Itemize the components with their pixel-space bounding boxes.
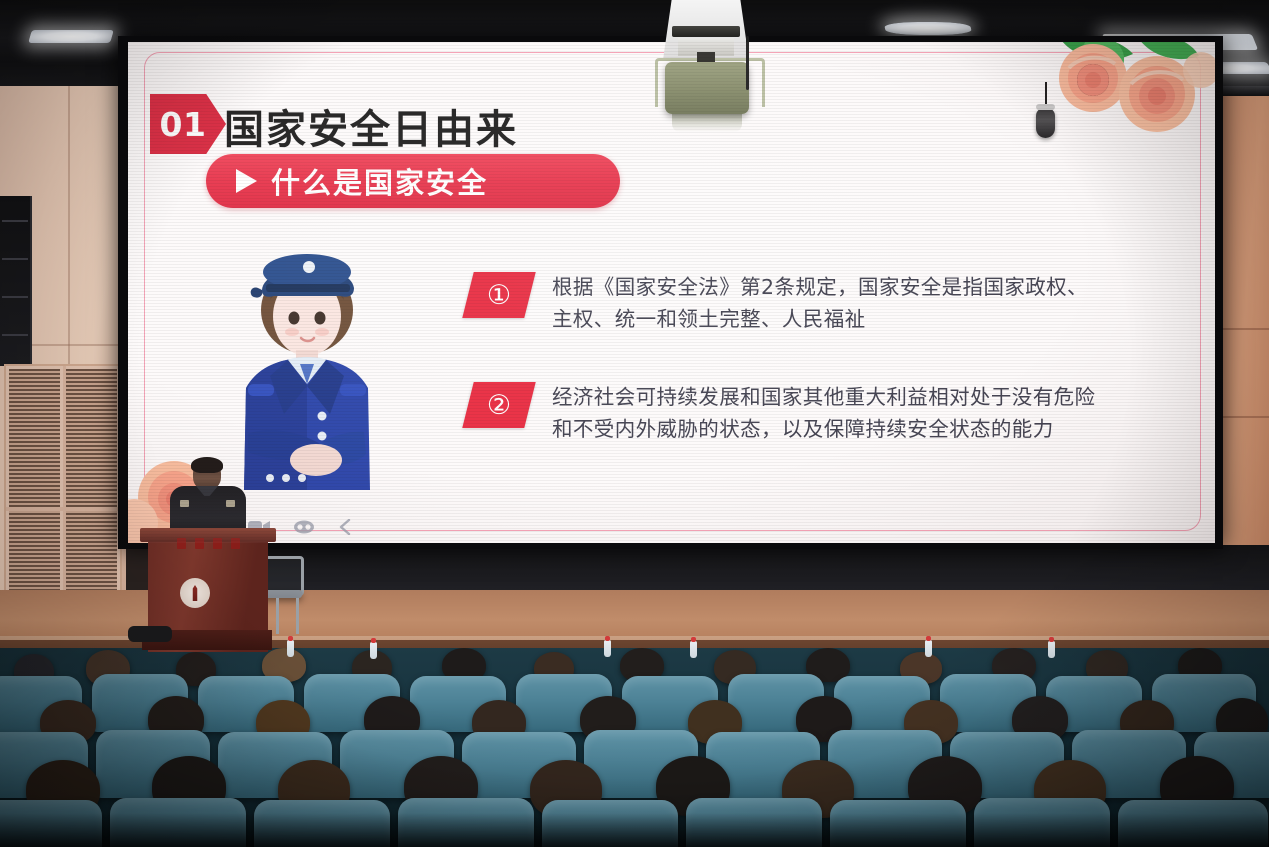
presenter-hair (191, 457, 223, 473)
bullet-text: 根据《国家安全法》第2条规定，国家安全是指国家政权、 主权、统一和领土完整、人民… (552, 272, 1088, 336)
bullet-item: ② 经济社会可持续发展和国家其他重大利益相对处于没有危险 和不受内外威胁的状态，… (468, 382, 1095, 446)
projector-bracket (672, 26, 740, 37)
section-number-badge: 01 (150, 94, 226, 154)
play-triangle-icon (236, 169, 257, 193)
police-officer-illustration (212, 238, 402, 508)
audience-shadow (0, 813, 1269, 847)
bullet-line: 根据《国家安全法》第2条规定，国家安全是指国家政权、 (552, 272, 1088, 304)
microphone-collar (1036, 104, 1055, 110)
bullet-line: 主权、统一和领土完整、人民福祉 (552, 304, 1088, 336)
bullet-marker: ① (462, 272, 535, 318)
bullet-marker-label: ① (487, 282, 511, 309)
hanging-microphone-icon (1036, 108, 1055, 138)
ceiling-projector-icon (665, 62, 749, 114)
section-banner: 什么是国家安全 (206, 154, 620, 208)
rose-decoration-icon (1041, 42, 1215, 154)
projector-reflection (672, 114, 742, 132)
audience-seating (0, 648, 1269, 847)
projector-cable (746, 36, 749, 90)
section-number-label: 01 (154, 102, 212, 146)
back-chevron-icon[interactable] (338, 519, 352, 535)
bullet-line: 和不受内外威胁的状态，以及保障持续安全状态的能力 (552, 414, 1095, 446)
water-bottle (1048, 641, 1055, 658)
water-bottle (370, 642, 377, 659)
section-banner-label: 什么是国家安全 (271, 160, 488, 202)
bullet-marker: ② (462, 382, 535, 428)
wall-speaker-icon (0, 196, 32, 366)
bullet-item: ① 根据《国家安全法》第2条规定，国家安全是指国家政权、 主权、统一和领土完整、… (468, 272, 1088, 336)
podium-inscription (152, 534, 264, 552)
water-bottle (287, 640, 294, 657)
auditorium-scene: 01 国家安全日由来 什么是国家安全 (0, 0, 1269, 847)
recessed-ceiling-light (28, 30, 114, 43)
bullet-marker-label: ② (487, 392, 511, 419)
institution-emblem-icon (180, 578, 210, 608)
water-bottle (690, 641, 697, 658)
bullet-line: 经济社会可持续发展和国家其他重大利益相对处于没有危险 (552, 382, 1095, 414)
water-bottle (925, 640, 932, 657)
water-bottle (604, 640, 611, 657)
bullet-text: 经济社会可持续发展和国家其他重大利益相对处于没有危险 和不受内外威胁的状态，以及… (552, 382, 1095, 446)
floor-microphone-stand (128, 626, 172, 642)
more-options-icon[interactable] (294, 520, 314, 534)
recessed-ceiling-light (884, 22, 973, 35)
slide-title: 国家安全日由来 (224, 97, 518, 155)
